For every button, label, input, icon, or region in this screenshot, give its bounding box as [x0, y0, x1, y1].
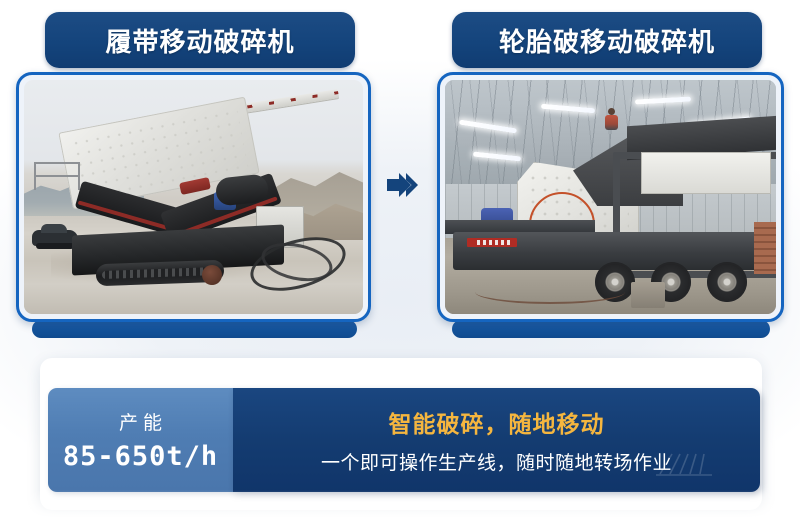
photo-right-scene [445, 80, 776, 314]
photo-card-right-shadow-bar [452, 320, 770, 338]
capacity-value: 85-650t/h [63, 441, 218, 472]
message-subline: 一个即可操作生产线，随时随地转场作业 [321, 448, 672, 475]
card-title-right: 轮胎破移动破碎机 [452, 12, 762, 68]
message-panel: 智能破碎，随地移动 一个即可操作生产线，随时随地转场作业 [233, 388, 760, 492]
photo-left-drive-wheel [202, 265, 222, 285]
photo-right-brick-wall [754, 222, 776, 274]
capacity-panel: 产能 85-650t/h [48, 388, 233, 492]
photo-right-concrete-block [631, 282, 665, 308]
photo-left [24, 80, 363, 314]
photo-card-left-shadow-bar [32, 320, 357, 338]
photo-right-side-panel [641, 152, 771, 194]
double-chevron-right-icon [386, 170, 420, 200]
photo-right-worker-body [605, 115, 618, 130]
message-headline: 智能破碎，随地移动 [389, 405, 605, 439]
photo-card-right [437, 72, 784, 322]
poster-root: 履带移动破碎机 轮胎破移动破碎机 [0, 0, 800, 530]
photo-right-worker [605, 108, 618, 130]
card-title-right-label: 轮胎破移动破碎机 [499, 22, 715, 59]
photo-right-brand-plate [467, 238, 517, 247]
photo-left-handrail [34, 162, 80, 190]
photo-left-scene [24, 80, 363, 314]
photo-right-worker-head [608, 108, 615, 115]
photo-right-ground-cable [475, 280, 625, 304]
transition-arrow [386, 170, 420, 200]
card-title-left: 履带移动破碎机 [45, 12, 355, 68]
photo-card-left [16, 72, 371, 322]
photo-right [445, 80, 776, 314]
photo-right-tyre-3 [707, 262, 747, 302]
card-title-left-label: 履带移动破碎机 [105, 22, 294, 59]
capacity-label: 产能 [114, 408, 167, 435]
